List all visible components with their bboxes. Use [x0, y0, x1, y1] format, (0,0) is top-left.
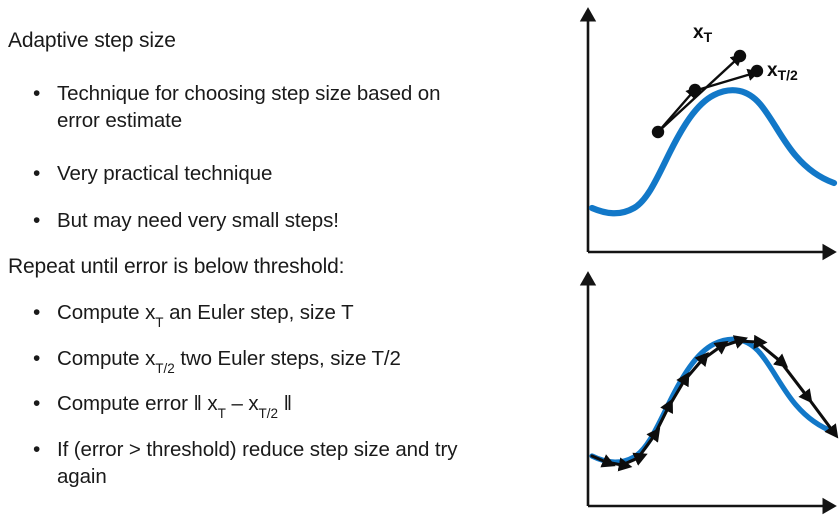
step-segment — [738, 341, 757, 342]
list-item-label: Compute xT an Euler step, size T — [47, 299, 354, 326]
list-item-label: Very practical technique — [47, 160, 272, 187]
list-item-label: Technique for choosing step size based o… — [47, 80, 477, 134]
euler-step-error-diagram: xT xT/2 — [568, 0, 839, 262]
step-segment — [638, 436, 654, 458]
xT2-endpoint — [751, 65, 763, 77]
list-item-label: But may need very small steps! — [47, 207, 339, 234]
adaptive-steps-along-curve-diagram — [568, 262, 839, 518]
list-item: • Compute xT/2 two Euler steps, size T/2 — [33, 345, 553, 372]
solution-curve — [592, 339, 834, 462]
midpoint-tangent-point — [689, 84, 701, 96]
bullet-icon: • — [33, 80, 47, 107]
list-item-label: Compute error ‖ xT – xT/2 ‖ — [47, 390, 292, 417]
bullet-icon: • — [33, 160, 47, 187]
axes-group — [588, 280, 828, 506]
list-item-label: Compute xT/2 two Euler steps, size T/2 — [47, 345, 401, 372]
bullet-icon: • — [33, 345, 47, 372]
list-item: • Technique for choosing step size based… — [33, 80, 553, 134]
section-heading: Repeat until error is below threshold: — [8, 254, 344, 280]
list-item: • Very practical technique — [33, 160, 553, 187]
page-title: Adaptive step size — [8, 28, 176, 54]
slide-text-body: Adaptive step size • Technique for choos… — [0, 0, 568, 518]
list-item: • Compute error ‖ xT – xT/2 ‖ — [33, 390, 553, 417]
start-point — [652, 126, 664, 138]
figure-column: xT xT/2 — [568, 0, 839, 518]
xT-endpoint — [734, 50, 746, 62]
bullet-icon: • — [33, 299, 47, 326]
label-xT: xT — [693, 22, 713, 45]
axes-group — [588, 16, 828, 252]
label-xT-over-2: xT/2 — [767, 60, 798, 83]
bullet-icon: • — [33, 390, 47, 417]
list-item: • Compute xT an Euler step, size T — [33, 299, 553, 326]
list-item: • If (error > threshold) reduce step siz… — [33, 436, 553, 490]
list-item: • But may need very small steps! — [33, 207, 553, 234]
bullet-icon: • — [33, 207, 47, 234]
step-segment — [654, 408, 668, 436]
euler-step-arrows — [659, 60, 751, 131]
bullet-icon: • — [33, 436, 47, 463]
list-item-label: If (error > threshold) reduce step size … — [47, 436, 477, 490]
solution-curve — [592, 90, 834, 213]
